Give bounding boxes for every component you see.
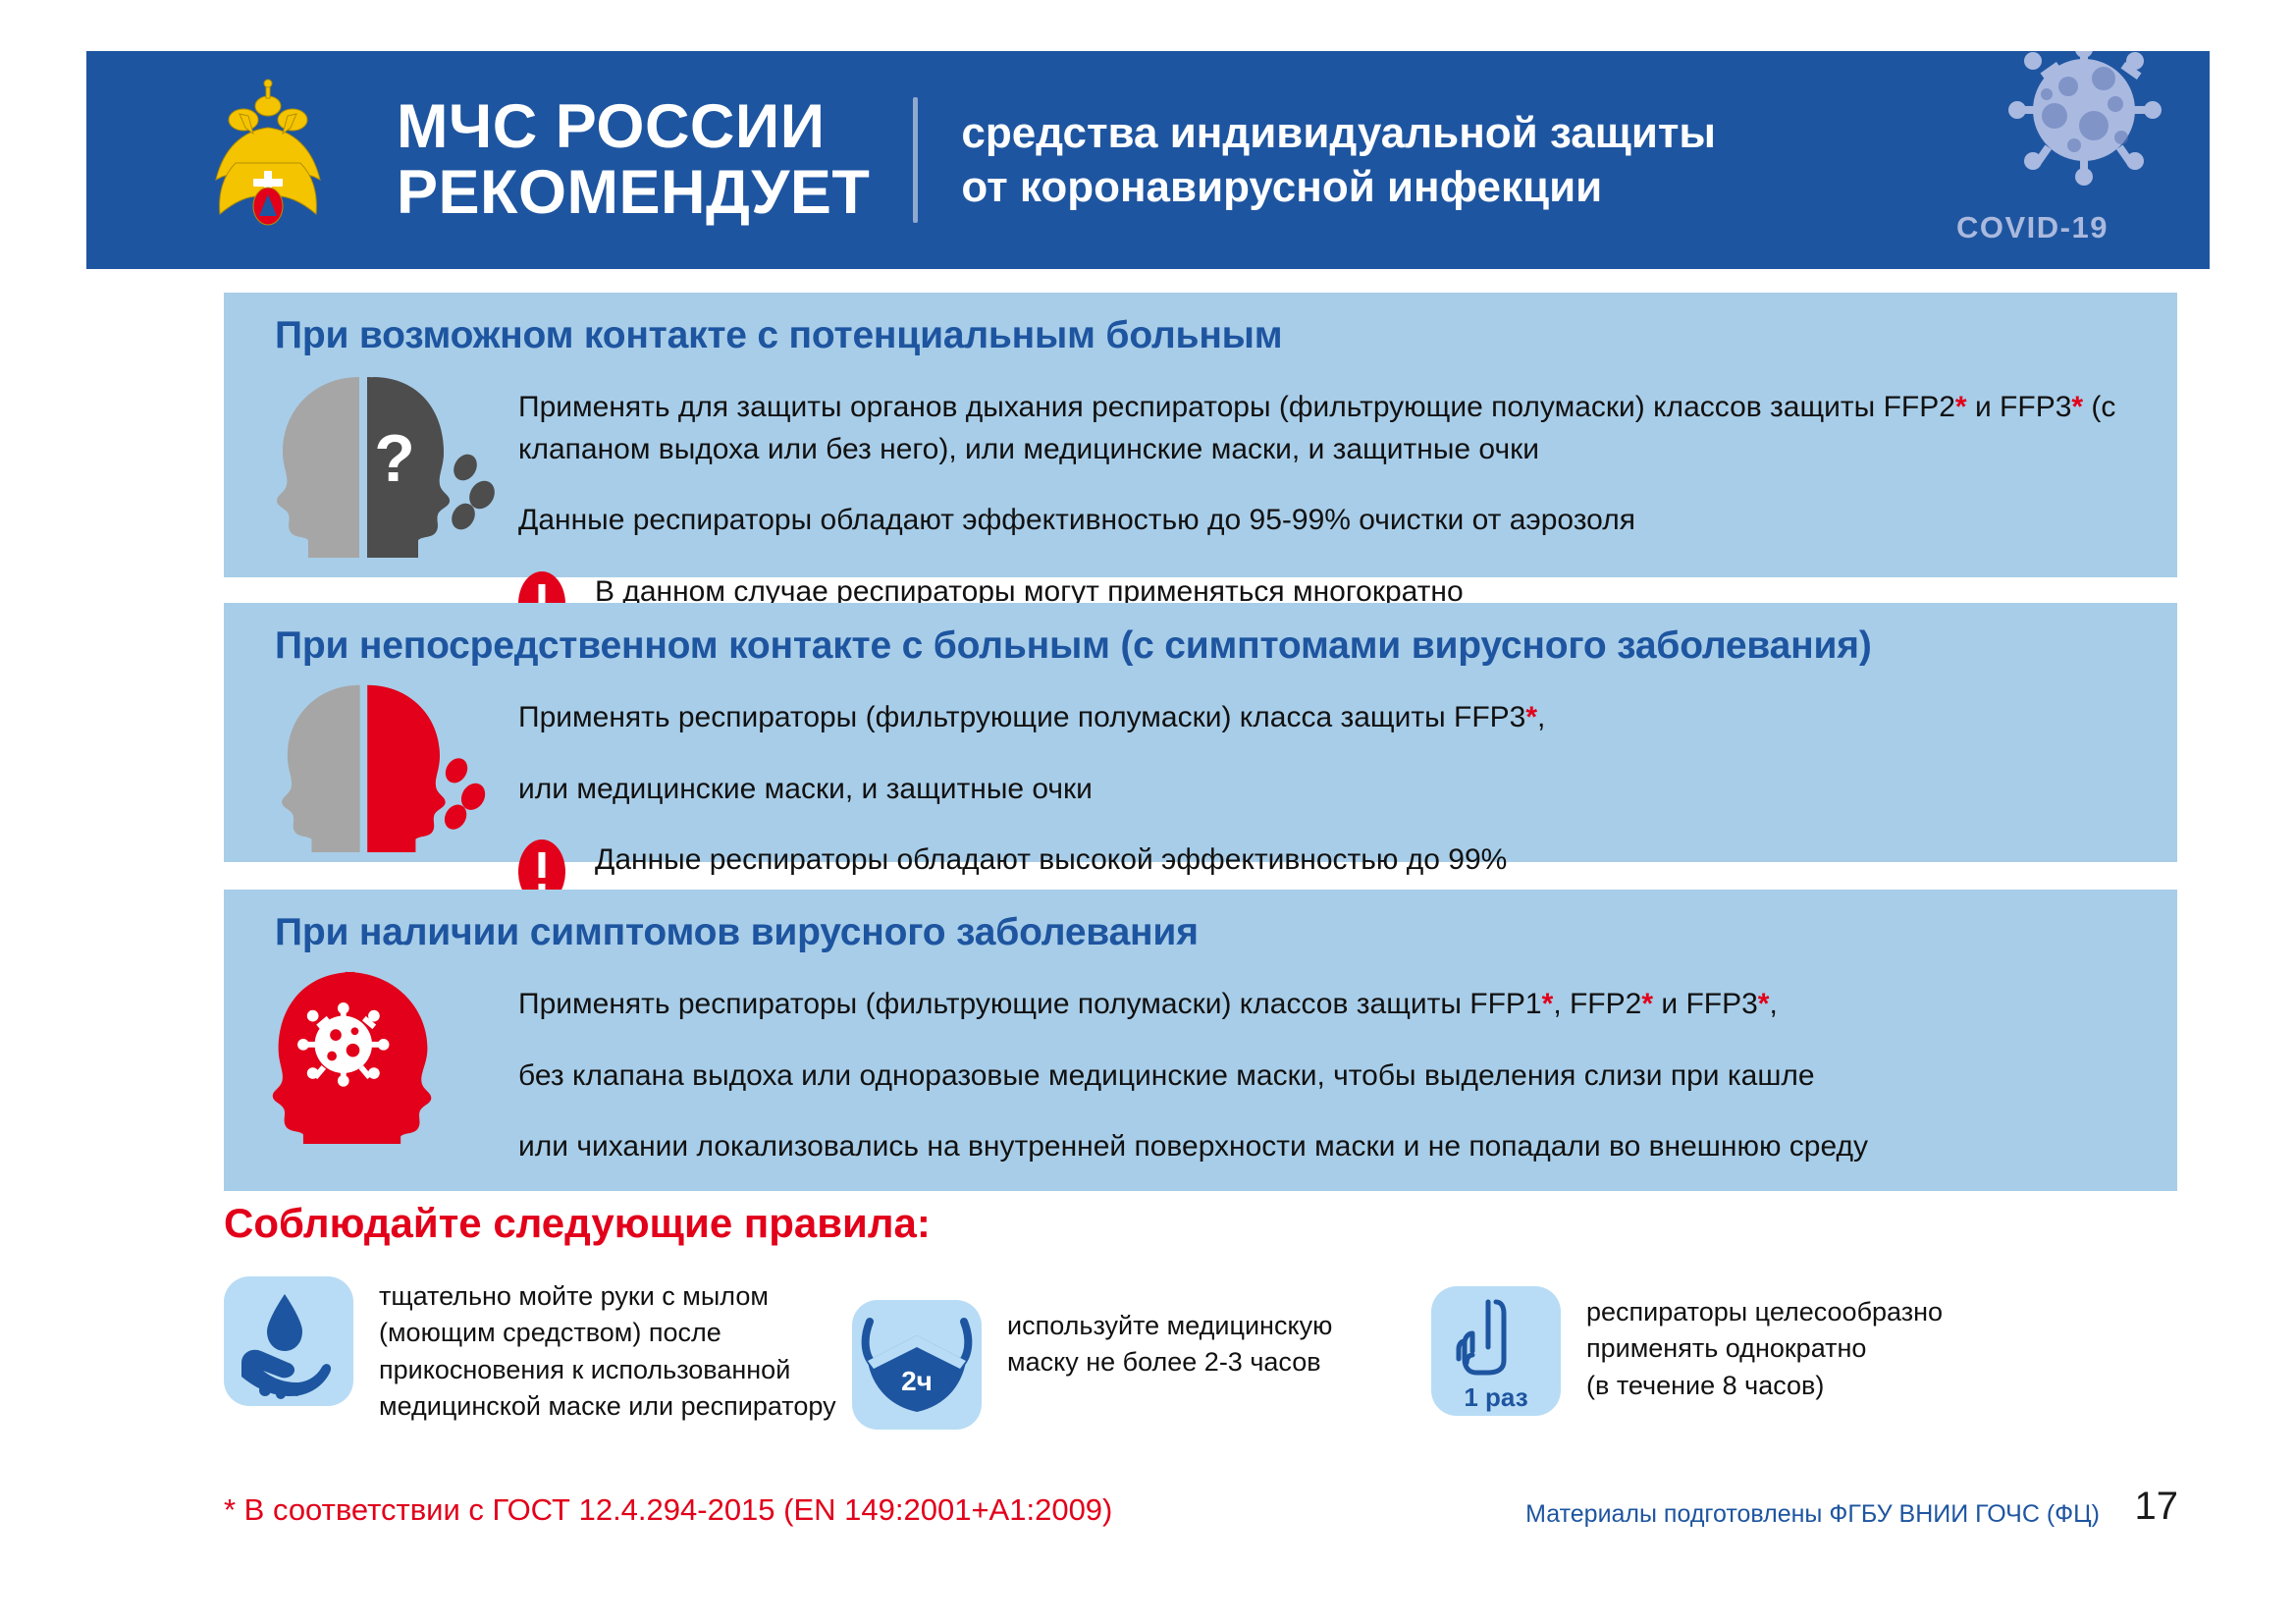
coronavirus-icon bbox=[1978, 51, 2164, 211]
finger-badge: 1 раз bbox=[1464, 1382, 1527, 1412]
rule-line: медицинской маске или респиратору bbox=[379, 1388, 836, 1425]
header-title-line-2: РЕКОМЕНДУЕТ bbox=[397, 160, 870, 226]
note-line-1: Данные респираторы обладают высокой эффе… bbox=[595, 839, 1507, 882]
rule-item: 1 раз респираторы целесообразно применят… bbox=[1431, 1276, 2020, 1416]
rule-line: прикосновения к использованной bbox=[379, 1352, 836, 1388]
mask-badge: 2ч bbox=[901, 1366, 933, 1396]
credits: Материалы подготовлены ФГБУ ВНИИ ГОЧС (Ф… bbox=[1525, 1500, 2100, 1529]
red-head-virus-icon bbox=[224, 954, 518, 1145]
panel-1-title: При возможном контакте с потенциальным б… bbox=[224, 293, 2177, 357]
panel-2-text: Применять респираторы (фильтрующие полум… bbox=[518, 668, 2177, 923]
panel-3-text: Применять респираторы (фильтрующие полум… bbox=[518, 954, 2177, 1198]
rule-item: 2ч используйте медицинскую маску не боле… bbox=[852, 1276, 1431, 1430]
svg-text:?: ? bbox=[374, 421, 415, 496]
rules-list: тщательно мойте руки с мылом (моющим сре… bbox=[224, 1276, 2177, 1430]
header-subtitle-line-2: от коронавирусной инфекции bbox=[961, 160, 1716, 214]
panel-2-title: При непосредственном контакте с больным … bbox=[224, 603, 2177, 668]
footnote: * В соответствии с ГОСТ 12.4.294-2015 (E… bbox=[224, 1492, 1112, 1528]
rule-text: используйте медицинскую маску не более 2… bbox=[1007, 1300, 1332, 1381]
panel-possible-contact: При возможном контакте с потенциальным б… bbox=[224, 293, 2177, 577]
covid-label: COVID-19 bbox=[1956, 210, 2109, 245]
panel-3-title: При наличии симптомов вирусного заболева… bbox=[224, 890, 2177, 954]
wash-hands-water-drop-icon bbox=[224, 1276, 353, 1406]
rule-line: тщательно мойте руки с мылом bbox=[379, 1278, 836, 1315]
rule-item: тщательно мойте руки с мылом (моющим сре… bbox=[224, 1276, 852, 1425]
page-header: МЧС РОССИИ РЕКОМЕНДУЕТ средства индивиду… bbox=[86, 51, 2210, 269]
rule-text: респираторы целесообразно применять одно… bbox=[1586, 1286, 1943, 1404]
pointing-finger-icon: 1 раз bbox=[1431, 1286, 1561, 1416]
paragraph: или чихании локализовались на внутренней… bbox=[518, 1126, 2138, 1168]
paragraph: Применять для защиты органов дыхания рес… bbox=[518, 387, 2138, 470]
head-red-coughing-icon bbox=[224, 668, 518, 853]
panel-symptoms-present: При наличии симптомов вирусного заболева… bbox=[224, 890, 2177, 1191]
rule-line: респираторы целесообразно bbox=[1586, 1294, 1943, 1330]
rule-line: применять однократно bbox=[1586, 1330, 1943, 1367]
covid-badge: COVID-19 bbox=[1905, 51, 2200, 269]
rule-text: тщательно мойте руки с мылом (моющим сре… bbox=[379, 1276, 836, 1425]
rule-line: (в течение 8 часов) bbox=[1586, 1368, 1943, 1404]
header-subtitle-line-1: средства индивидуальной защиты bbox=[961, 106, 1716, 160]
rule-line: (моющим средством) после bbox=[379, 1315, 836, 1351]
header-title-line-1: МЧС РОССИИ bbox=[397, 94, 870, 160]
rule-line: маску не более 2-3 часов bbox=[1007, 1344, 1332, 1380]
header-divider bbox=[913, 97, 918, 223]
paragraph: Применять респираторы (фильтрующие полум… bbox=[518, 984, 2138, 1026]
rules-title: Соблюдайте следующие правила: bbox=[224, 1200, 931, 1247]
paragraph: Применять респираторы (фильтрующие полум… bbox=[518, 697, 2138, 739]
mchs-eagle-emblem-icon bbox=[194, 77, 342, 244]
paragraph: Данные респираторы обладают эффективност… bbox=[518, 500, 2138, 542]
header-subtitle: средства индивидуальной защиты от корона… bbox=[961, 106, 1716, 214]
header-title: МЧС РОССИИ РЕКОМЕНДУЕТ bbox=[397, 94, 870, 227]
medical-mask-icon: 2ч bbox=[852, 1300, 982, 1430]
paragraph: или медицинские маски, и защитные очки bbox=[518, 769, 2138, 811]
two-heads-question-coughing-icon: ? bbox=[224, 357, 518, 563]
rule-line: используйте медицинскую bbox=[1007, 1308, 1332, 1344]
panel-direct-contact: При непосредственном контакте с больным … bbox=[224, 603, 2177, 862]
page-number: 17 bbox=[2135, 1485, 2179, 1529]
paragraph: без клапана выдоха или одноразовые медиц… bbox=[518, 1056, 2138, 1098]
